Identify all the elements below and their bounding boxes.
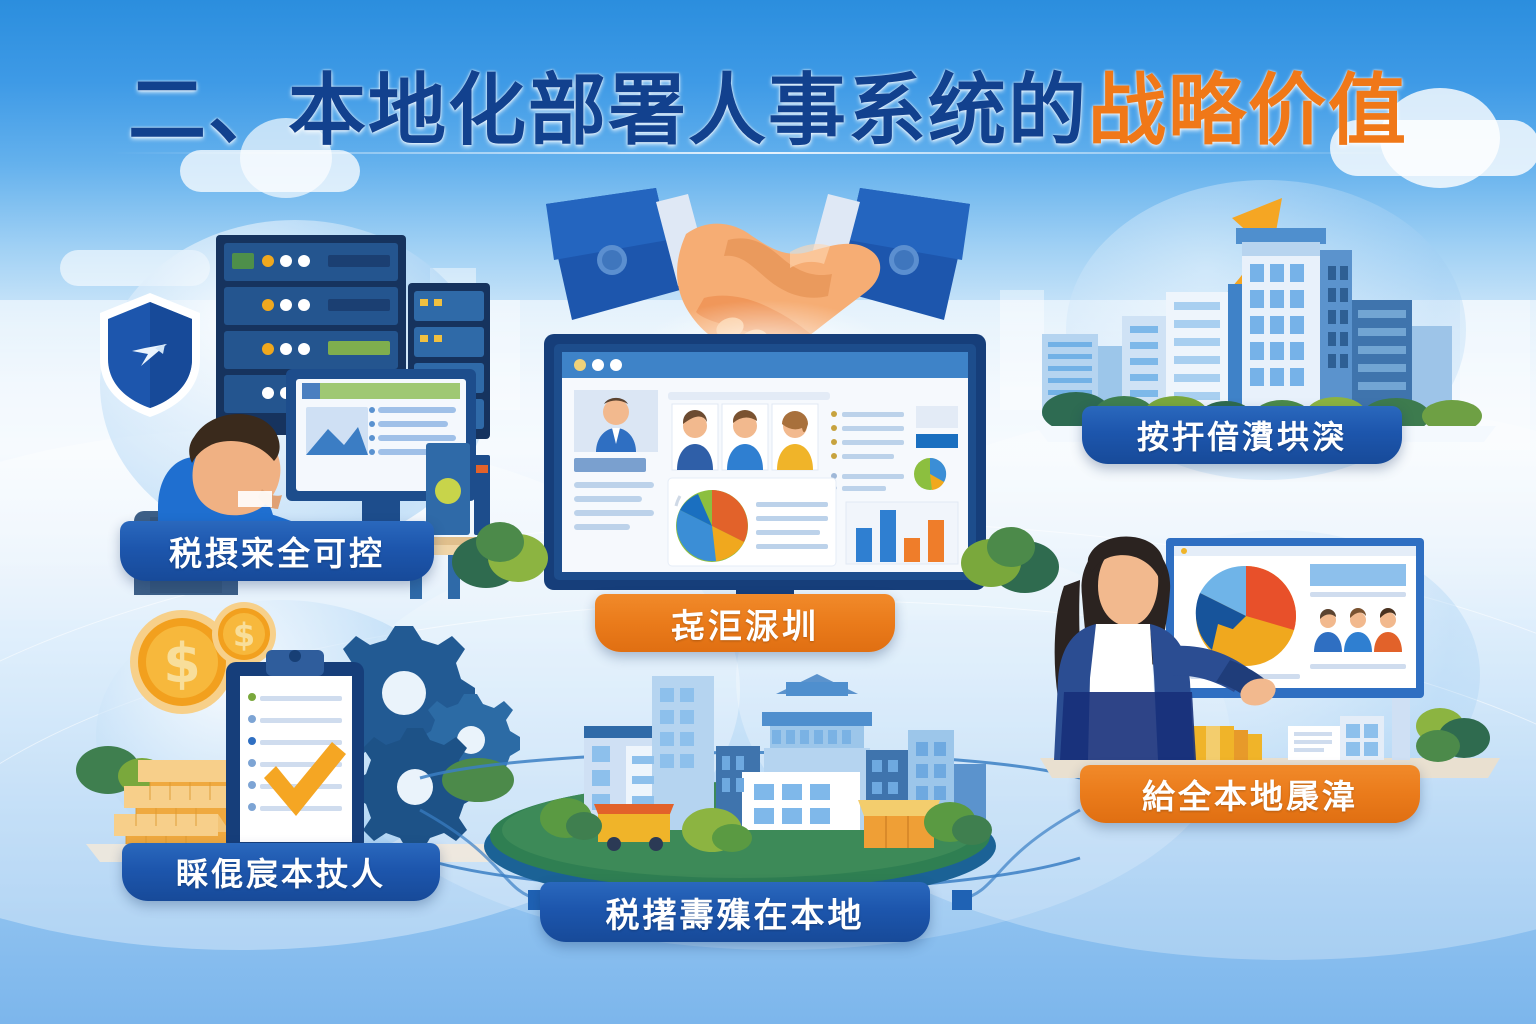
panel-growth: 按扞偣㵒垬湥	[1036, 180, 1496, 480]
page-title-main: 二、本地化部署人事系统的	[128, 66, 1088, 156]
factory-icon	[1288, 698, 1410, 760]
pie-chart-icon	[914, 458, 946, 490]
banner-center-label: 㐂洰㳮圳	[671, 599, 819, 648]
banner-local-service-label: 給全本地㞙湋	[1142, 770, 1358, 818]
hr-dashboard-icon	[540, 330, 990, 600]
banner-growth[interactable]: 按扞偣㵒垬湥	[1082, 406, 1402, 464]
city-skyline-icon	[1036, 180, 1496, 440]
page-title-highlight: 战略价值	[1088, 66, 1408, 156]
banner-local-city-label: 税擆夀㱷在本地	[606, 888, 865, 937]
panel-security: 税摂宩全可控	[80, 215, 500, 610]
page-title: 二、本地化部署人事系统的战略价值	[0, 48, 1536, 160]
infographic-canvas: 二、本地化部署人事系统的战略价值	[0, 0, 1536, 1024]
presenter-illustration	[1040, 520, 1500, 800]
panel-local-city: 税擆夀㱷在本地	[430, 660, 1050, 960]
bush-left-of-monitor	[452, 500, 562, 590]
city-island-icon	[480, 660, 1000, 910]
banner-security[interactable]: 税摂宩全可控	[120, 521, 434, 581]
svg-text:$: $	[233, 616, 255, 654]
banner-cost-label: 睬倱宸本扙人	[176, 849, 386, 895]
clipboard-check-icon	[226, 650, 364, 852]
pie-chart-large	[676, 490, 748, 562]
panel-center-dashboard: 㐂洰㳮圳	[520, 170, 1000, 670]
banner-local-city[interactable]: 税擆夀㱷在本地	[540, 882, 930, 942]
banner-cost[interactable]: 睬倱宸本扙人	[122, 843, 440, 901]
banner-local-service[interactable]: 給全本地㞙湋	[1080, 765, 1420, 823]
banner-center[interactable]: 㐂洰㳮圳	[595, 594, 895, 652]
panel-local-service: 給全本地㞙湋	[1040, 520, 1500, 860]
banner-growth-label: 按扞偣㵒垬湥	[1137, 412, 1347, 458]
banner-security-label: 税摂宩全可控	[169, 527, 385, 575]
svg-text:$: $	[163, 632, 201, 695]
